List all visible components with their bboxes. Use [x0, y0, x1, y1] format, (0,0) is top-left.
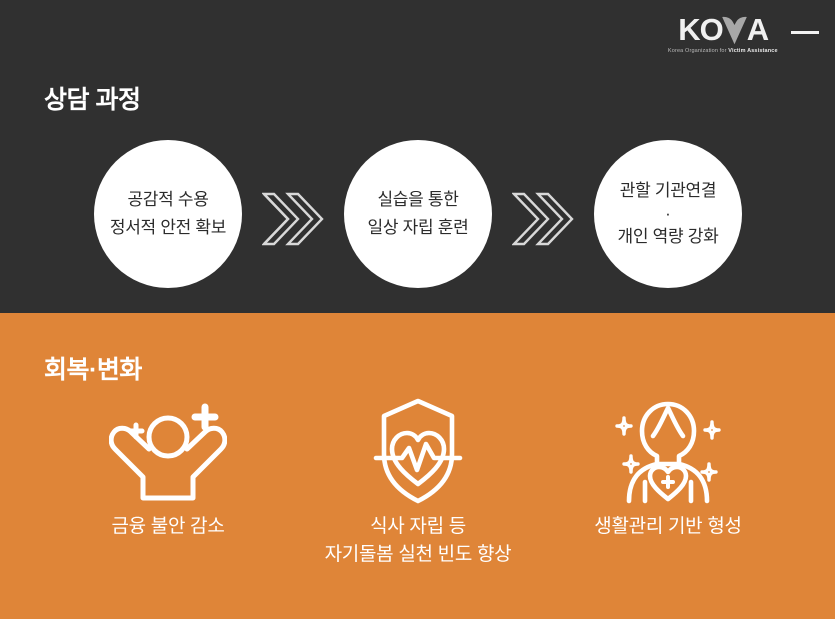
process-step-2-line-2: 일상 자립 훈련: [368, 214, 469, 242]
outcome-caption-2-line-1: 식사 자립 등: [325, 513, 512, 541]
slide-canvas: K O A Korea Organization for Victim Assi…: [0, 0, 835, 619]
outcome-caption-2: 식사 자립 등 자기돌봄 실천 빈도 향상: [325, 513, 512, 568]
outcome-item-2: 식사 자립 등 자기돌봄 실천 빈도 향상: [293, 395, 543, 568]
logo-subtitle: Korea Organization for Victim Assistance: [668, 48, 778, 54]
kova-logo: K O A Korea Organization for Victim Assi…: [669, 14, 819, 54]
process-step-3-separator: ·: [665, 205, 671, 224]
process-step-2-line-1: 실습을 통한: [377, 186, 458, 214]
outcome-section-heading: 회복·변화: [44, 350, 142, 386]
outcome-caption-1: 금융 불안 감소: [111, 513, 224, 541]
outcome-item-3: 생활관리 기반 형성: [543, 395, 793, 541]
outcome-caption-2-line-2: 자기돌봄 실천 빈도 향상: [325, 541, 512, 569]
person-raised-arms-plus-icon: [109, 395, 227, 507]
process-step-1: 공감적 수용 정서적 안전 확보: [94, 140, 242, 288]
process-section-heading: 상담 과정: [44, 80, 140, 116]
process-step-3-line-1: 관할 기관연결: [620, 177, 716, 205]
process-step-3-line-3: 개인 역량 강화: [618, 223, 719, 251]
logo-letter-o: O: [700, 14, 723, 45]
outcome-caption-3: 생활관리 기반 형성: [594, 513, 741, 541]
outcome-caption-3-line-1: 생활관리 기반 형성: [594, 513, 741, 541]
logo-subtitle-prefix: Korea Organization for: [668, 48, 728, 54]
outcome-item-1: 금융 불안 감소: [43, 395, 293, 541]
person-heart-cross-sparkle-icon: [609, 395, 727, 507]
logo-wordmark: K O A: [678, 14, 768, 45]
logo-subtitle-bold: Victim Assistance: [729, 48, 778, 54]
process-step-2: 실습을 통한 일상 자립 훈련: [344, 140, 492, 288]
heart-icon: [721, 16, 748, 45]
outcome-caption-1-line-1: 금융 불안 감소: [111, 513, 224, 541]
logo-dash-icon: [791, 31, 819, 34]
process-step-1-line-2: 정서적 안전 확보: [110, 214, 226, 242]
process-step-3: 관할 기관연결 · 개인 역량 강화: [594, 140, 742, 288]
logo-mark: K O A Korea Organization for Victim Assi…: [669, 14, 777, 54]
logo-letter-k: K: [678, 14, 699, 45]
logo-letter-a: A: [747, 14, 768, 45]
process-step-1-line-1: 공감적 수용: [127, 186, 208, 214]
double-chevron-right-icon: [262, 190, 324, 248]
double-chevron-right-icon: [512, 190, 574, 248]
shield-heart-pulse-icon: [362, 395, 474, 507]
